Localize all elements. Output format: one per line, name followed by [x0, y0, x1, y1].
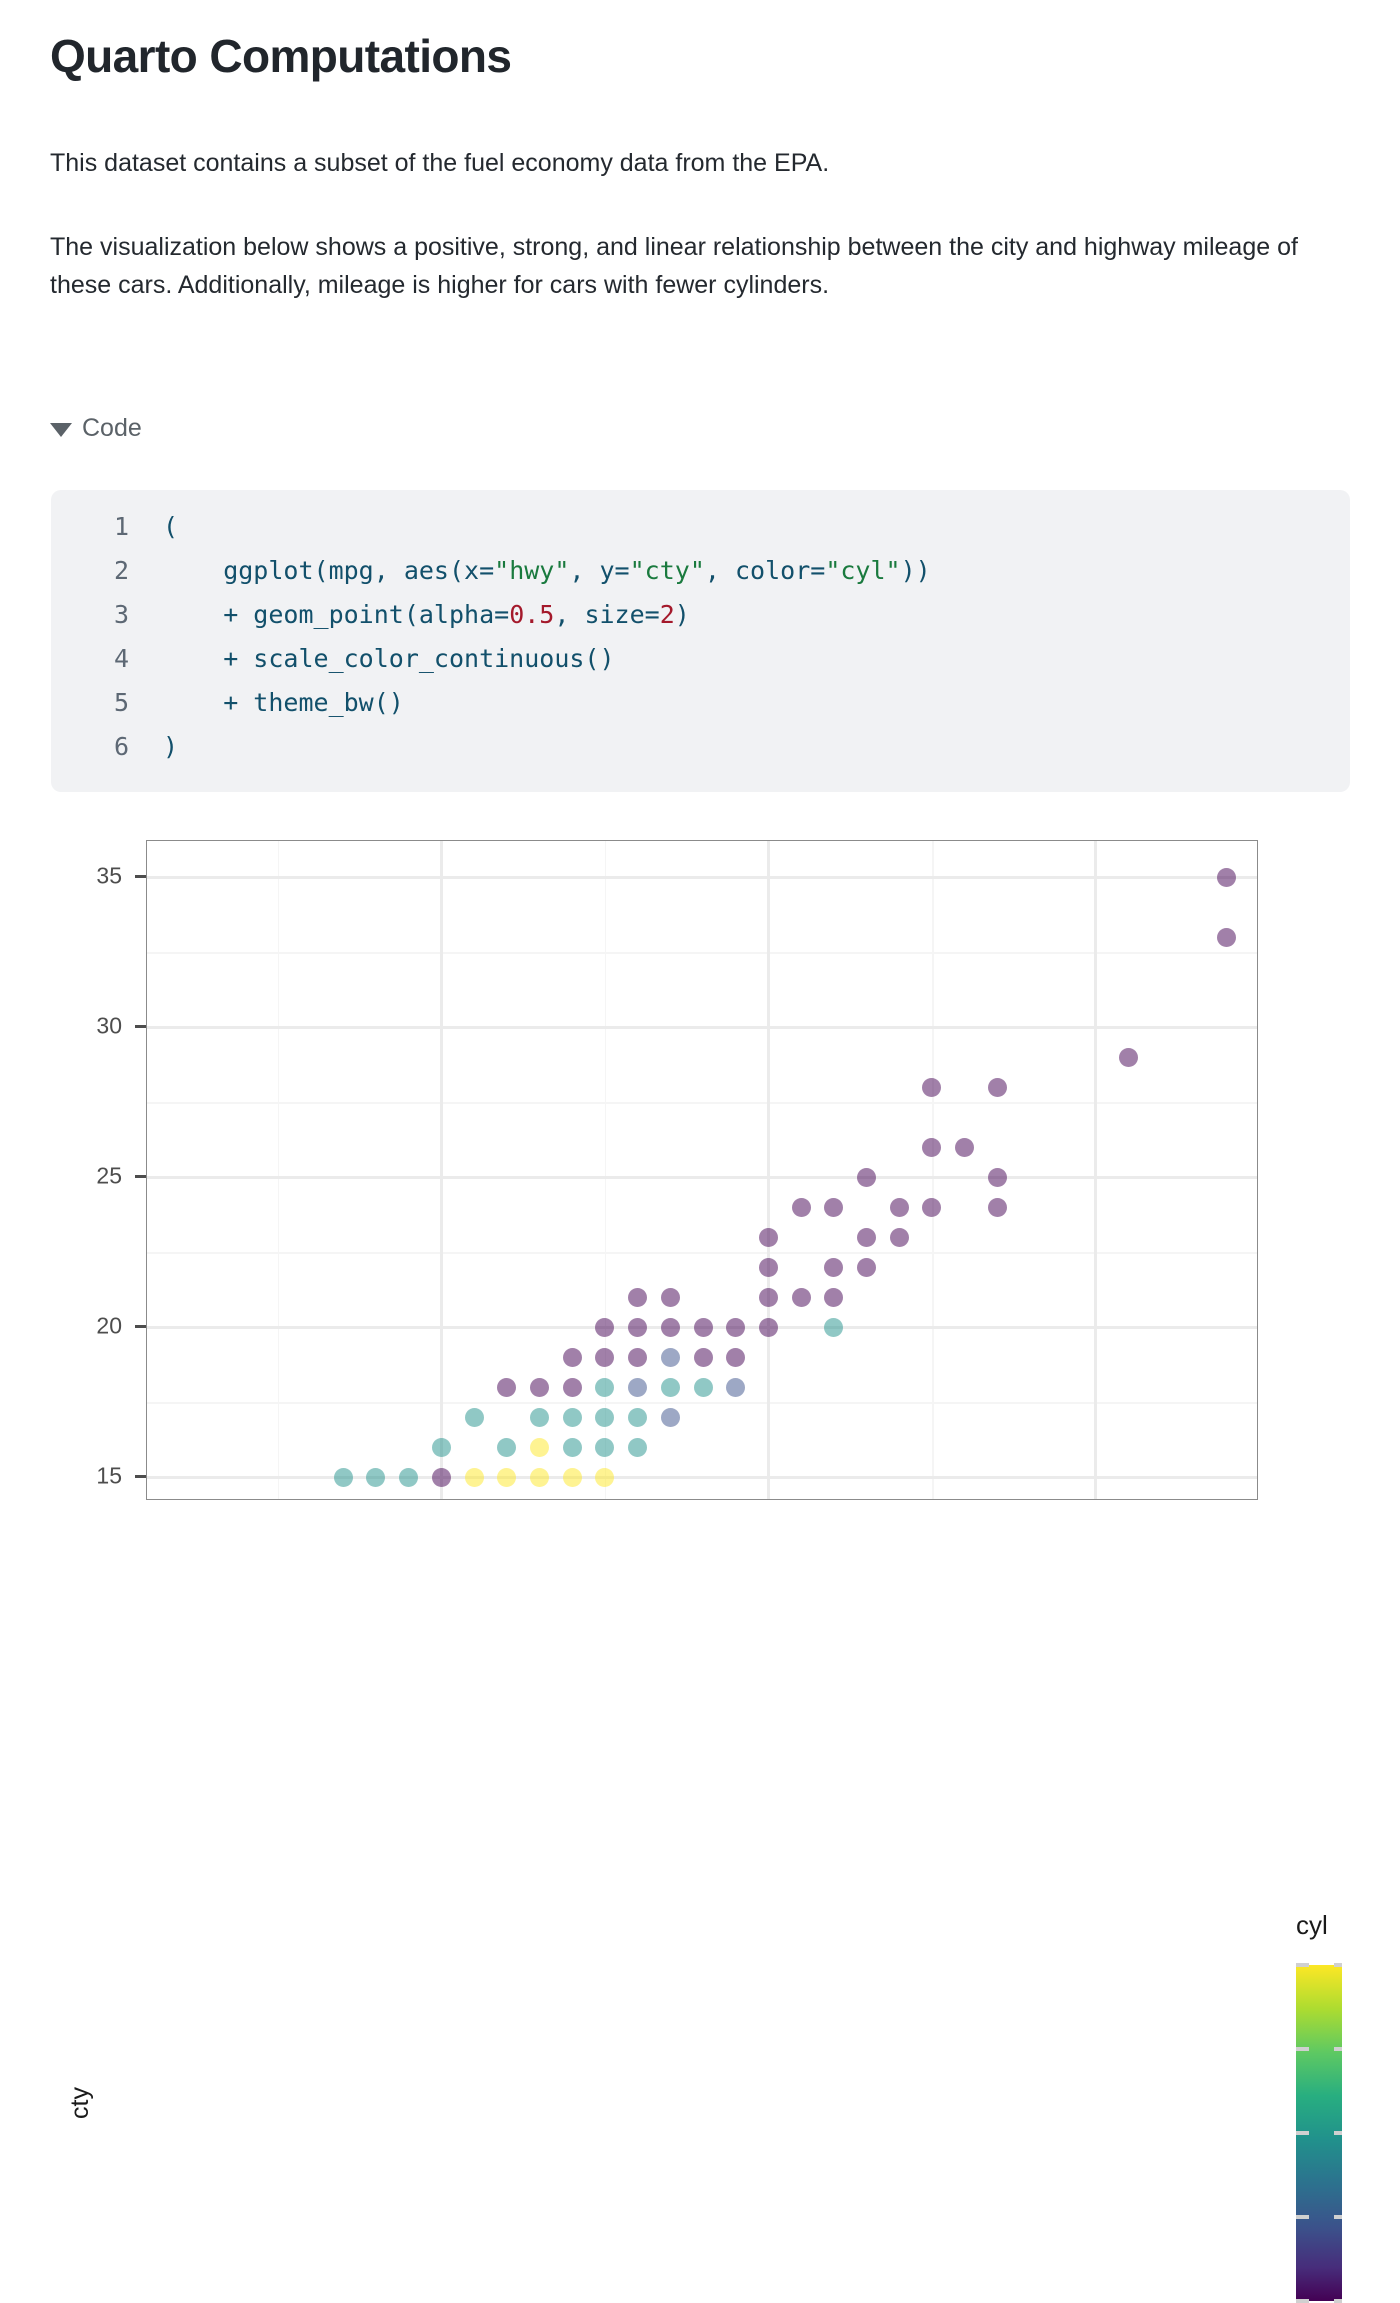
page-root: Quarto Computations This dataset contain…: [0, 0, 1400, 1500]
scatter-point: [432, 1438, 451, 1457]
scatter-point: [922, 1138, 941, 1157]
line-number: 3: [51, 600, 163, 629]
scatter-point: [988, 1168, 1007, 1187]
scatter-point: [628, 1348, 647, 1367]
code-text: (: [163, 512, 178, 541]
scatter-point: [595, 1468, 614, 1487]
gridline-major-horizontal: [147, 876, 1257, 879]
scatter-point: [628, 1408, 647, 1427]
legend-title: cyl: [1296, 1910, 1400, 1941]
scatter-point: [465, 1468, 484, 1487]
scatter-point: [726, 1348, 745, 1367]
code-line: 3 + geom_point(alpha=0.5, size=2): [51, 600, 1350, 644]
scatter-point: [497, 1378, 516, 1397]
scatter-point: [694, 1318, 713, 1337]
code-text: + geom_point(alpha=0.5, size=2): [163, 600, 690, 629]
gridline-minor-horizontal: [147, 1402, 1257, 1404]
gridline-major-horizontal: [147, 1026, 1257, 1029]
scatter-point: [824, 1318, 843, 1337]
scatter-point: [988, 1198, 1007, 1217]
code-block[interactable]: 1(2 ggplot(mpg, aes(x="hwy", y="cty", co…: [51, 490, 1350, 792]
scatter-point: [530, 1468, 549, 1487]
colorbar-tick: [1296, 2047, 1309, 2051]
gridline-major-vertical: [1094, 841, 1097, 1499]
line-number: 1: [51, 512, 163, 541]
colorbar-tick: [1334, 1963, 1342, 1967]
y-axis-tick-mark: [135, 1175, 146, 1178]
code-text: ): [163, 732, 178, 761]
y-axis-tick-mark: [135, 875, 146, 878]
scatter-point: [922, 1198, 941, 1217]
scatter-point: [399, 1468, 418, 1487]
scatter-point: [661, 1288, 680, 1307]
colorbar-tick: [1334, 2215, 1342, 2219]
scatter-point: [759, 1288, 778, 1307]
code-text: + scale_color_continuous(): [163, 644, 615, 673]
code-text: + theme_bw(): [163, 688, 404, 717]
code-line: 5 + theme_bw(): [51, 688, 1350, 732]
scatter-plot: 1520253035 cty cyl: [0, 830, 1400, 1500]
scatter-point: [563, 1468, 582, 1487]
legend: cyl: [1290, 1910, 1400, 1967]
scatter-point: [595, 1318, 614, 1337]
gridline-major-horizontal: [147, 1476, 1257, 1479]
scatter-point: [563, 1348, 582, 1367]
intro-paragraph-2: The visualization below shows a positive…: [50, 228, 1340, 304]
scatter-point: [955, 1138, 974, 1157]
gridline-minor-vertical: [278, 841, 280, 1499]
scatter-point: [465, 1408, 484, 1427]
gridline-minor-horizontal: [147, 1102, 1257, 1104]
code-text: ggplot(mpg, aes(x="hwy", y="cty", color=…: [163, 556, 931, 585]
colorbar-tick: [1334, 2299, 1342, 2303]
y-axis-tick-mark: [135, 1025, 146, 1028]
scatter-point: [563, 1378, 582, 1397]
scatter-point: [1217, 928, 1236, 947]
scatter-point: [792, 1288, 811, 1307]
scatter-point: [661, 1378, 680, 1397]
intro-paragraph-1: This dataset contains a subset of the fu…: [50, 144, 1350, 182]
y-axis-tick-label: 15: [62, 1463, 122, 1490]
triangle-down-icon: [50, 423, 72, 437]
scatter-point: [595, 1348, 614, 1367]
line-number: 5: [51, 688, 163, 717]
line-number: 2: [51, 556, 163, 585]
scatter-point: [530, 1438, 549, 1457]
gridline-major-vertical: [767, 841, 770, 1499]
scatter-point: [497, 1438, 516, 1457]
scatter-point: [694, 1378, 713, 1397]
y-axis-tick-mark: [135, 1325, 146, 1328]
scatter-point: [759, 1318, 778, 1337]
gridline-minor-vertical: [932, 841, 934, 1499]
code-line: 4 + scale_color_continuous(): [51, 644, 1350, 688]
scatter-point: [759, 1258, 778, 1277]
scatter-point: [366, 1468, 385, 1487]
gridline-major-vertical: [440, 841, 443, 1499]
colorbar-tick: [1296, 1963, 1309, 1967]
scatter-point: [759, 1228, 778, 1247]
line-number: 6: [51, 732, 163, 761]
scatter-point: [595, 1438, 614, 1457]
scatter-point: [530, 1378, 549, 1397]
scatter-point: [563, 1438, 582, 1457]
scatter-point: [595, 1408, 614, 1427]
y-axis-label: cty: [66, 2087, 95, 2119]
scatter-point: [432, 1468, 451, 1487]
colorbar-tick: [1334, 2047, 1342, 2051]
plot-panel: [146, 840, 1258, 1500]
code-line: 2 ggplot(mpg, aes(x="hwy", y="cty", colo…: [51, 556, 1350, 600]
scatter-point: [628, 1318, 647, 1337]
scatter-point: [497, 1468, 516, 1487]
scatter-point: [628, 1438, 647, 1457]
scatter-point: [726, 1318, 745, 1337]
code-line: 1(: [51, 512, 1350, 556]
scatter-point: [857, 1168, 876, 1187]
scatter-point: [890, 1228, 909, 1247]
scatter-point: [628, 1378, 647, 1397]
scatter-point: [988, 1078, 1007, 1097]
gridline-minor-vertical: [605, 841, 607, 1499]
scatter-point: [792, 1198, 811, 1217]
colorbar-tick: [1296, 2299, 1309, 2303]
colorbar-tick: [1296, 2215, 1309, 2219]
gridline-minor-horizontal: [147, 952, 1257, 954]
scatter-point: [922, 1078, 941, 1097]
scatter-point: [694, 1348, 713, 1367]
scatter-point: [726, 1378, 745, 1397]
scatter-point: [824, 1258, 843, 1277]
scatter-point: [334, 1468, 353, 1487]
scatter-point: [661, 1408, 680, 1427]
code-fold-toggle[interactable]: Code: [50, 414, 142, 443]
y-axis-tick-label: 35: [62, 863, 122, 890]
scatter-point: [857, 1228, 876, 1247]
scatter-point: [857, 1258, 876, 1277]
line-number: 4: [51, 644, 163, 673]
y-axis-tick-label: 30: [62, 1013, 122, 1040]
code-fold-label: Code: [82, 414, 142, 443]
page-title: Quarto Computations: [50, 30, 511, 83]
colorbar-tick: [1334, 2131, 1342, 2135]
scatter-point: [595, 1378, 614, 1397]
scatter-point: [1217, 868, 1236, 887]
y-axis-tick-label: 20: [62, 1313, 122, 1340]
gridline-minor-horizontal: [147, 1252, 1257, 1254]
scatter-point: [661, 1318, 680, 1337]
gridline-major-horizontal: [147, 1176, 1257, 1179]
scatter-point: [661, 1348, 680, 1367]
code-line: 6): [51, 732, 1350, 776]
colorbar-tick: [1296, 2131, 1309, 2135]
scatter-point: [890, 1198, 909, 1217]
scatter-point: [824, 1198, 843, 1217]
colorbar: [1296, 1965, 1342, 2301]
y-axis-tick-mark: [135, 1475, 146, 1478]
scatter-point: [563, 1408, 582, 1427]
y-axis-tick-label: 25: [62, 1163, 122, 1190]
scatter-point: [628, 1288, 647, 1307]
scatter-point: [530, 1408, 549, 1427]
scatter-point: [824, 1288, 843, 1307]
scatter-point: [1119, 1048, 1138, 1067]
